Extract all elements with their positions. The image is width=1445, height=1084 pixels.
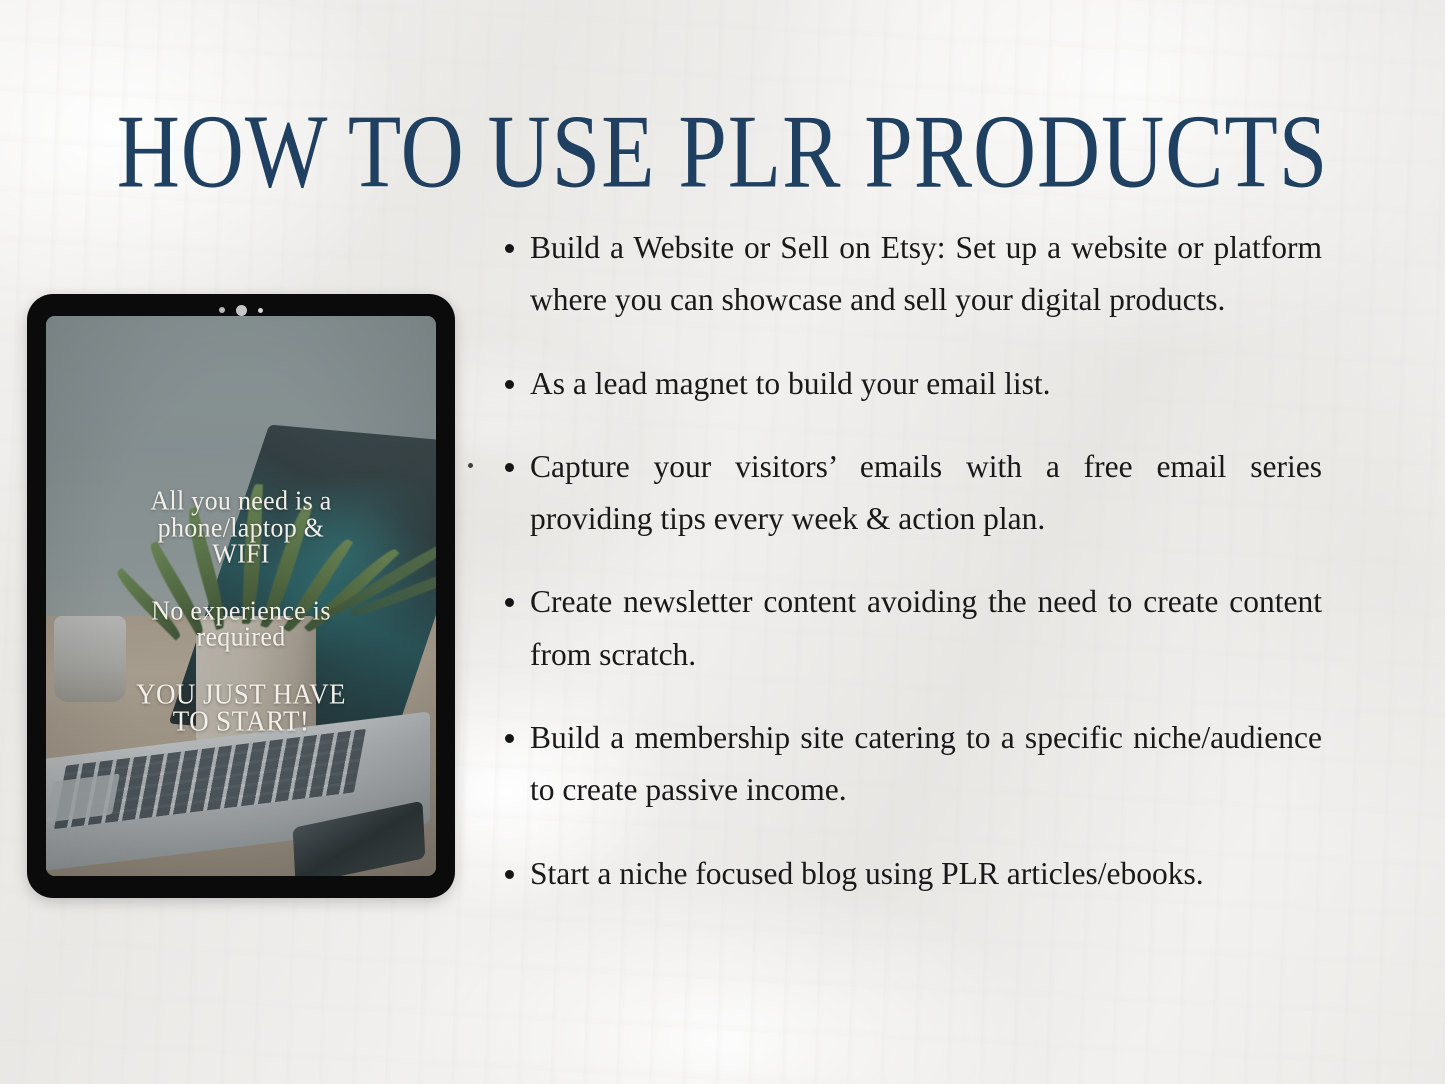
slide-canvas: HOW TO USE PLR PRODUCTS [0,0,1445,1084]
camera-lens-icon [236,305,247,316]
sensor-dot-icon [219,307,225,313]
list-item: Capture your visitors’ emails with a fre… [497,441,1322,546]
overlay-block-1: All you need is a phone/laptop & WIFI [46,488,436,568]
scan-speck-artifact [468,463,473,468]
list-item: Create newsletter content avoiding the n… [497,576,1322,681]
overlay-line: TO START! [46,707,436,736]
bullet-list: Build a Website or Sell on Etsy: Set up … [497,222,1322,900]
overlay-block-3: YOU JUST HAVE TO START! [46,681,436,736]
list-item: Build a Website or Sell on Etsy: Set up … [497,222,1322,327]
overlay-line: required [46,623,436,651]
tablet-camera-row [27,303,455,317]
list-item: Build a membership site catering to a sp… [497,712,1322,817]
page-title: HOW TO USE PLR PRODUCTS [51,99,1395,204]
overlay-line: WIFI [46,540,436,568]
sensor-dot-icon [258,308,263,313]
tablet-overlay-text: All you need is a phone/laptop & WIFI No… [46,488,436,736]
tablet-mockup: All you need is a phone/laptop & WIFI No… [27,294,455,898]
tablet-screen: All you need is a phone/laptop & WIFI No… [46,316,436,876]
list-item: Start a niche focused blog using PLR art… [497,848,1322,900]
overlay-block-2: No experience is required [46,598,436,651]
list-item: As a lead magnet to build your email lis… [497,358,1322,410]
